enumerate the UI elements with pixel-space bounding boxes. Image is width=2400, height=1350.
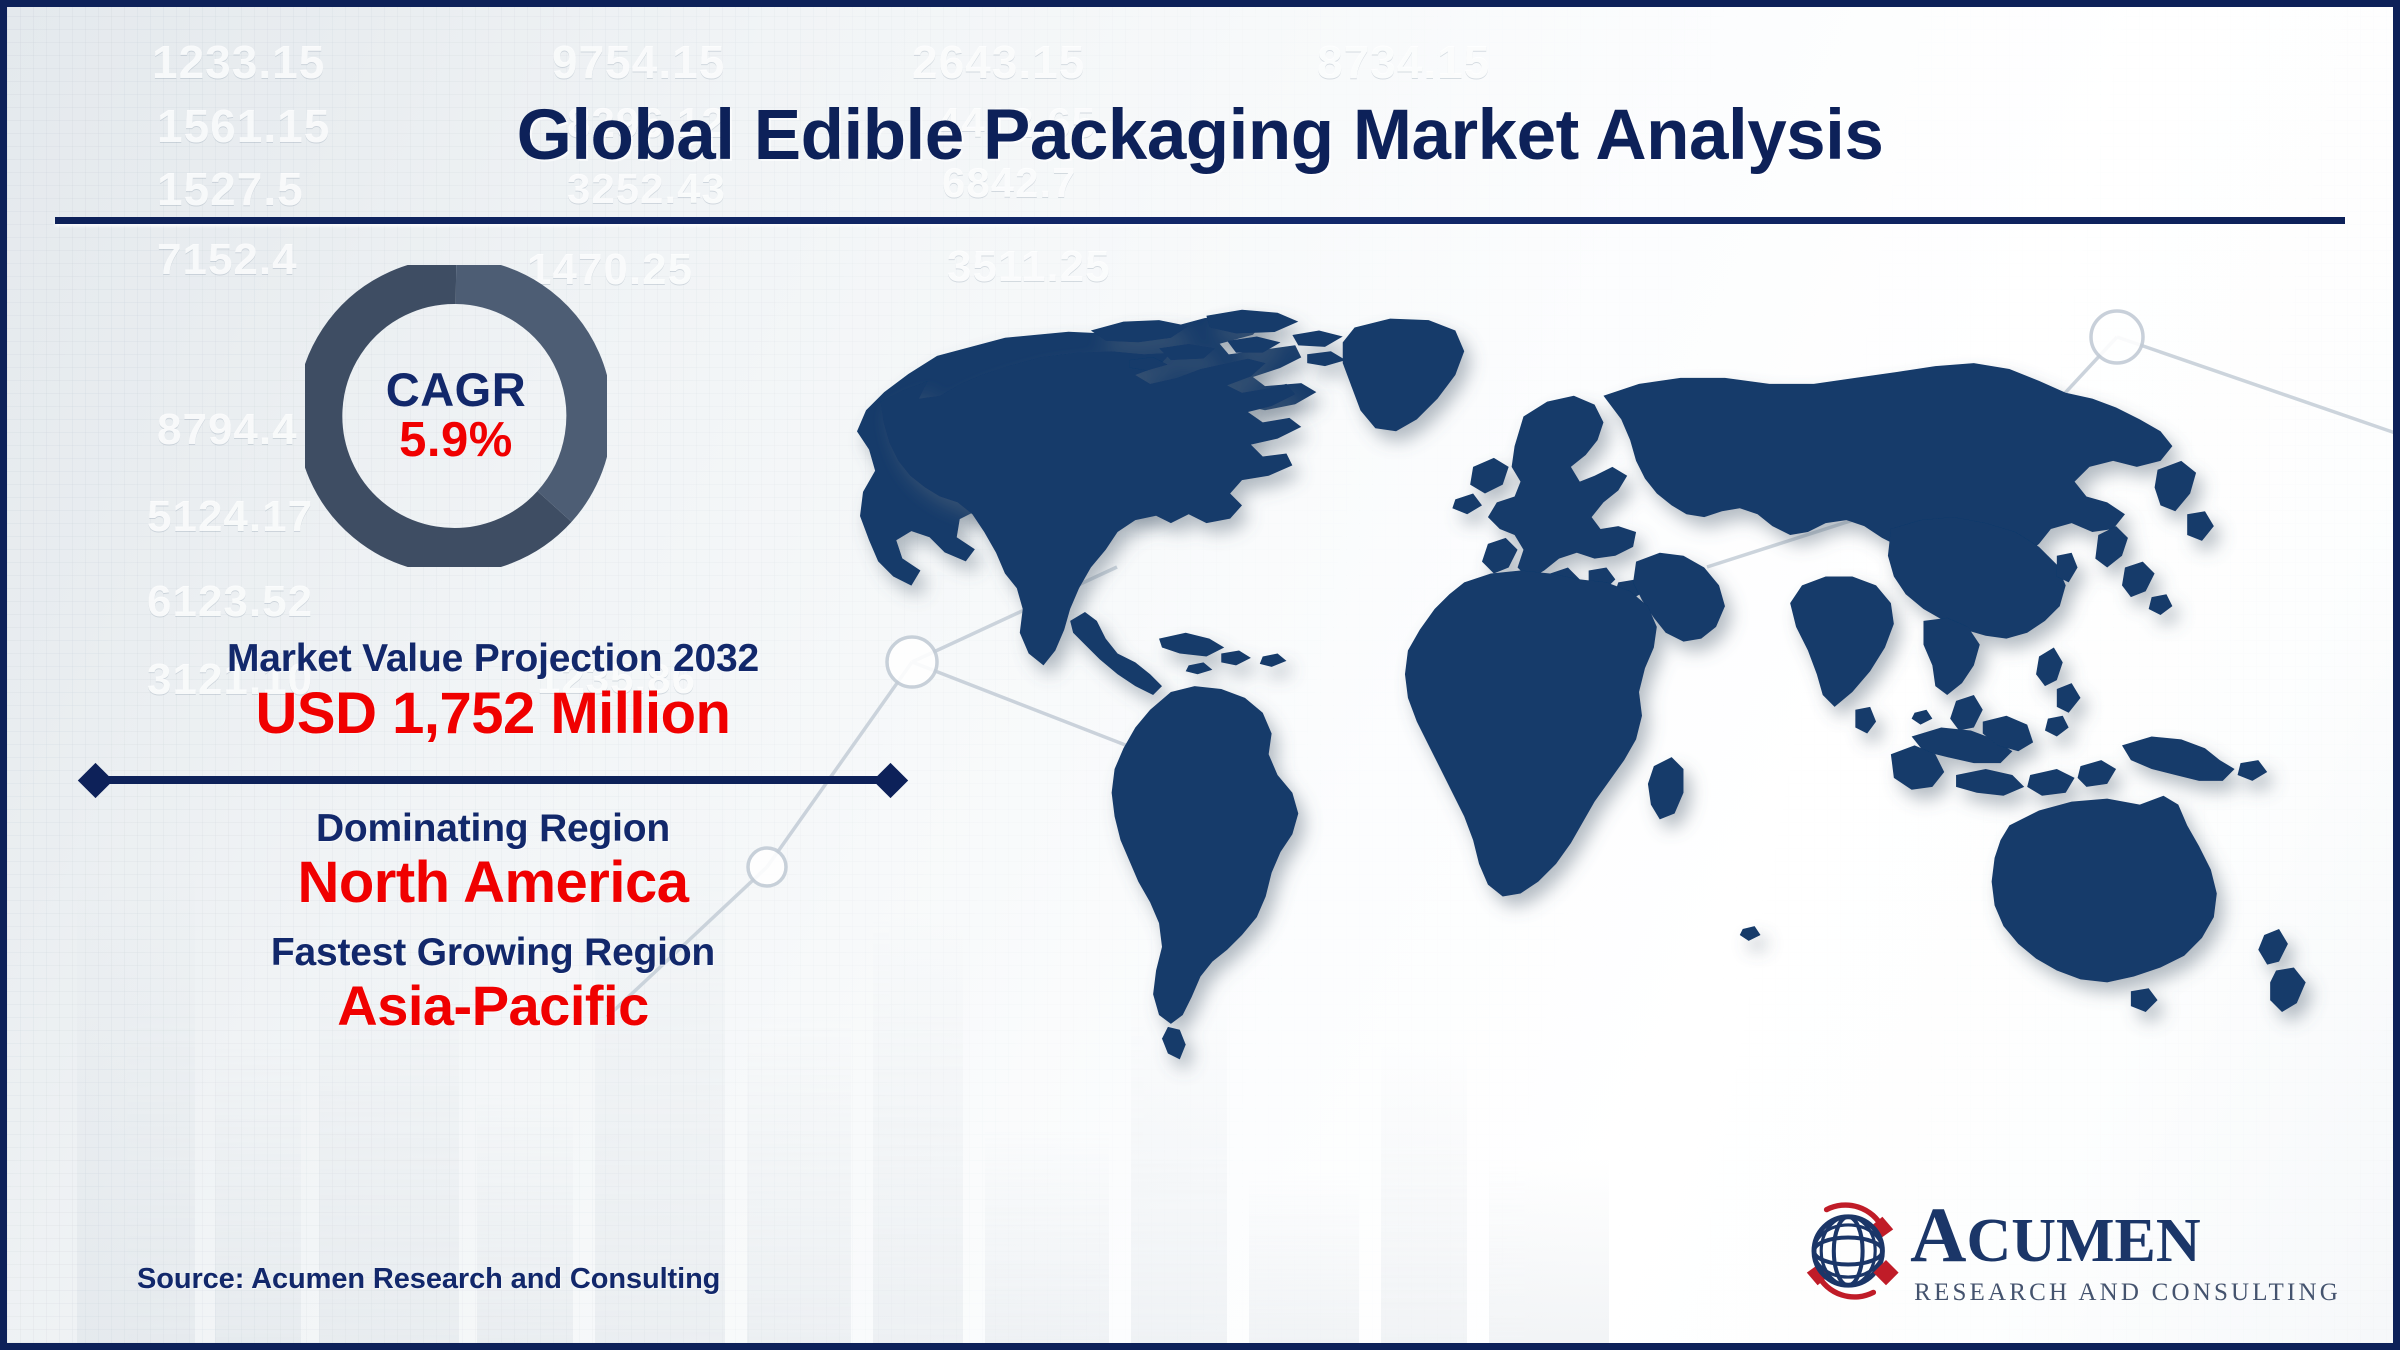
logo-subtitle: RESEARCH AND CONSULTING: [1910, 1280, 2341, 1305]
logo-wordmark: ACUMEN RESEARCH AND CONSULTING: [1910, 1196, 2341, 1305]
stat-market-value: Market Value Projection 2032 USD 1,752 M…: [53, 637, 933, 747]
stat-value-market-value: USD 1,752 Million: [53, 681, 933, 747]
stat-fastest-growing-region: Fastest Growing Region Asia-Pacific: [53, 931, 933, 1039]
divider-bar: [95, 776, 891, 784]
page-title: Global Edible Packaging Market Analysis: [7, 95, 2393, 176]
acumen-logo: ACUMEN RESEARCH AND CONSULTING: [1796, 1196, 2341, 1305]
logo-name-initial: A: [1910, 1191, 1966, 1278]
title-divider: [55, 217, 2345, 224]
stat-value-fastest-growing-region: Asia-Pacific: [53, 974, 933, 1038]
logo-name: ACUMEN: [1910, 1196, 2341, 1274]
donut-center-labels: CAGR 5.9%: [305, 265, 607, 567]
stat-value-dominating-region: North America: [53, 850, 933, 916]
cagr-value: 5.9%: [399, 415, 513, 466]
cagr-label: CAGR: [386, 366, 526, 413]
stats-column: Market Value Projection 2032 USD 1,752 M…: [53, 637, 933, 1038]
globe-icon: [1796, 1197, 1904, 1305]
landmasses: [881, 310, 2306, 1060]
world-map: [842, 292, 2362, 1092]
logo-name-rest: CUMEN: [1966, 1207, 2200, 1275]
stat-label-market-value: Market Value Projection 2032: [53, 637, 933, 681]
infographic-canvas: 1233.159754.152643.158734.151561.158296.…: [0, 0, 2400, 1350]
source-text: Source: Acumen Research and Consulting: [137, 1263, 720, 1296]
stat-label-dominating-region: Dominating Region: [53, 807, 933, 851]
world-map-svg: [842, 292, 2362, 1092]
stat-dominating-region: Dominating Region North America: [53, 807, 933, 917]
stat-label-fastest-growing-region: Fastest Growing Region: [53, 931, 933, 975]
cagr-donut-chart: CAGR 5.9%: [305, 265, 607, 567]
stats-divider: [53, 763, 933, 797]
